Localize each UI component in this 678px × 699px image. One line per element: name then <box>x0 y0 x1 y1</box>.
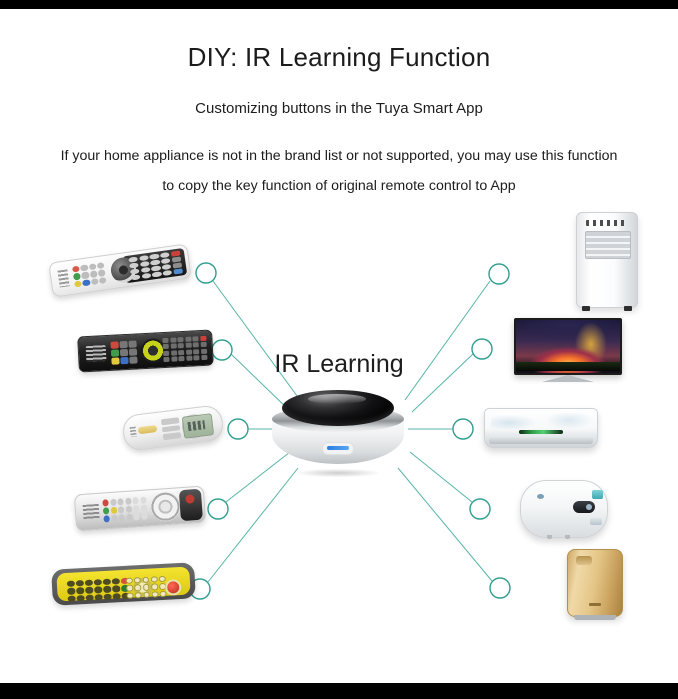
page-subtitle: Customizing buttons in the Tuya Smart Ap… <box>0 100 678 117</box>
portable-ac-control-panel <box>586 220 628 226</box>
appliance-water-heater[interactable] <box>520 480 608 538</box>
node-appliance-portable-air-conditioner[interactable] <box>489 264 509 284</box>
water-heater-inlet <box>547 535 552 539</box>
air-purifier-handle <box>576 556 592 565</box>
appliance-air-purifier[interactable] <box>567 549 623 617</box>
hub-drop-shadow <box>278 467 398 479</box>
node-remote-white-tv[interactable] <box>196 263 216 283</box>
letterbox-top <box>0 0 678 9</box>
hub-dome-highlight <box>308 394 366 404</box>
node-appliance-split-air-conditioner[interactable] <box>453 419 473 439</box>
remote-ac-lcd-power-button <box>138 425 158 434</box>
remote-silver-universal-power-panel <box>179 489 203 521</box>
link-appliance-air-purifier <box>398 468 492 581</box>
link-appliance-portable-air-conditioner <box>405 281 490 400</box>
remote-ac-lcd[interactable] <box>123 410 223 446</box>
split-ac-panel-pattern <box>491 413 591 429</box>
remote-silver-universal-navigation-wheel <box>150 491 181 522</box>
portable-ac-caster-right <box>624 306 632 311</box>
page-description: If your home appliance is not in the bra… <box>54 141 624 201</box>
water-heater-badge <box>592 490 603 499</box>
node-remote-silver-universal[interactable] <box>208 499 228 519</box>
hub-dome <box>282 390 394 426</box>
remote-yellow-number-keys <box>67 578 130 602</box>
slide-canvas: DIY: IR Learning Function Customizing bu… <box>0 0 678 699</box>
hub-label: IR Learning <box>0 350 678 379</box>
remote-ac-lcd-display <box>182 413 214 438</box>
split-ac-louver <box>489 436 593 444</box>
remote-yellow-function-keys <box>126 576 167 599</box>
node-appliance-water-heater[interactable] <box>470 499 490 519</box>
ir-blaster-hub[interactable] <box>272 390 404 472</box>
air-purifier-base <box>574 615 616 620</box>
appliance-portable-air-conditioner[interactable] <box>576 212 638 308</box>
remote-ac-lcd-mode-keys <box>161 417 181 440</box>
remote-white-tv[interactable] <box>50 253 190 288</box>
remote-yellow-faceplate <box>56 567 190 602</box>
hub-led-indicator <box>322 442 354 455</box>
remote-silver-universal[interactable] <box>75 490 205 527</box>
appliance-split-air-conditioner[interactable] <box>484 408 598 448</box>
portable-ac-caster-left <box>582 306 590 311</box>
air-purifier-brand-mark <box>589 603 601 606</box>
link-appliance-water-heater <box>410 452 472 502</box>
water-heater-outlet <box>565 535 570 539</box>
remote-silver-universal-keys <box>102 497 147 523</box>
remote-yellow-power-button <box>165 579 182 596</box>
node-appliance-air-purifier[interactable] <box>490 578 510 598</box>
portable-ac-vent-grille <box>585 231 631 259</box>
link-remote-white-tv <box>213 281 300 400</box>
remote-yellow[interactable] <box>52 566 195 602</box>
remote-silver-universal-brand-mark <box>83 504 100 520</box>
letterbox-bottom <box>0 683 678 699</box>
remote-ac-lcd-side-keys <box>130 427 137 438</box>
split-ac-display <box>519 430 563 434</box>
remote-white-tv-side-keys <box>57 269 69 287</box>
water-heater-label <box>590 518 602 525</box>
node-remote-ac-lcd[interactable] <box>228 419 248 439</box>
water-heater-logo <box>537 494 544 499</box>
remote-white-tv-color-keys <box>72 262 107 287</box>
page-title: DIY: IR Learning Function <box>0 42 678 73</box>
water-heater-control-panel <box>573 501 595 513</box>
link-remote-yellow <box>208 468 298 582</box>
